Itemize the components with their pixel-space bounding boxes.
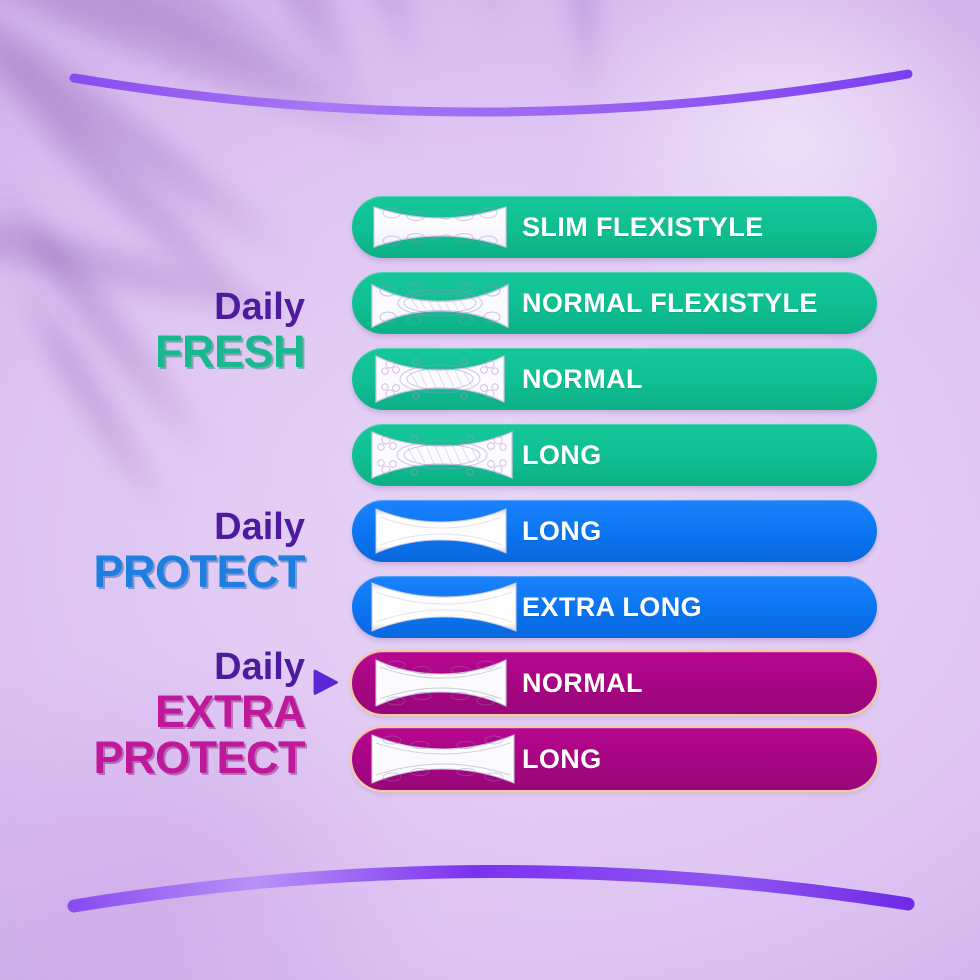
group-eyebrow-daily-protect: Daily xyxy=(0,508,305,546)
product-label: NORMAL xyxy=(522,364,643,395)
group-title-fresh: FRESH xyxy=(0,329,305,374)
product-label: LONG xyxy=(522,744,602,775)
product-bar-extra-long-protect[interactable]: EXTRA LONG xyxy=(352,576,877,638)
product-bar-normal-flexistyle[interactable]: NORMAL FLEXISTYLE xyxy=(352,272,877,334)
pad-icon-lace-hourglass-long-magenta xyxy=(366,730,520,788)
pad-icon-lace-oval-quilt xyxy=(366,275,514,331)
product-bar-long-protect[interactable]: LONG xyxy=(352,500,877,562)
product-bar-slim-flexistyle[interactable]: SLIM FLEXISTYLE xyxy=(352,196,877,258)
product-label: EXTRA LONG xyxy=(522,592,702,623)
pad-icon-plain-wave-long xyxy=(366,578,522,636)
group-label-daily-extra-protect: Daily EXTRA PROTECT xyxy=(0,648,305,781)
product-label: NORMAL xyxy=(522,668,643,699)
product-bar-long-extra-protect[interactable]: LONG xyxy=(352,728,877,790)
pad-icon-plain-wave xyxy=(366,504,516,558)
group-title-extra-protect: PROTECT xyxy=(0,735,305,781)
product-label: LONG xyxy=(522,516,602,547)
pad-icon-lace-floral-long xyxy=(366,426,518,484)
pad-icon-lace-hourglass-magenta xyxy=(366,655,516,711)
infographic-canvas: Daily FRESH Daily PROTECT Daily EXTRA PR… xyxy=(0,0,980,980)
product-bar-normal-fresh[interactable]: NORMAL xyxy=(352,348,877,410)
group-title-protect: PROTECT xyxy=(0,549,305,594)
pad-icon-lace-floral xyxy=(366,350,514,408)
product-label: LONG xyxy=(522,440,602,471)
group-title-extra: EXTRA xyxy=(0,689,305,735)
group-label-daily-fresh: Daily FRESH xyxy=(0,288,305,374)
pad-icon-lace-hourglass xyxy=(366,201,514,253)
product-bar-normal-extra-protect[interactable]: NORMAL xyxy=(352,652,877,714)
product-label: NORMAL FLEXISTYLE xyxy=(522,288,818,319)
product-bar-long-fresh[interactable]: LONG xyxy=(352,424,877,486)
group-eyebrow-daily-extra-protect: Daily xyxy=(0,648,305,686)
group-eyebrow-daily-fresh: Daily xyxy=(0,288,305,326)
play-triangle-icon xyxy=(309,665,343,699)
product-label: SLIM FLEXISTYLE xyxy=(522,212,764,243)
group-label-daily-protect: Daily PROTECT xyxy=(0,508,305,594)
